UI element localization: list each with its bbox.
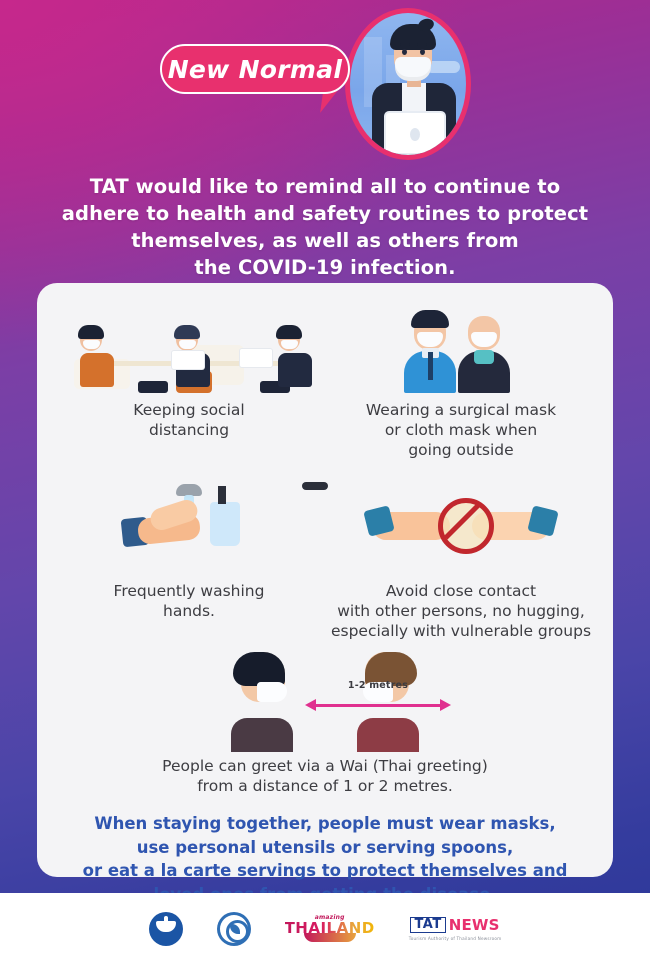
hair-shape (390, 24, 436, 50)
intro-line: themselves, as well as others from (22, 228, 628, 255)
wai-illustration: 1-2 metres (53, 648, 597, 752)
page-title: TAT would like to remind all to continue… (22, 174, 628, 282)
caption-line: or cloth mask when (366, 421, 556, 441)
news-label: NEWS (449, 916, 500, 934)
closing-line: When staying together, people must wear … (59, 812, 591, 835)
avatar (345, 8, 471, 160)
soap-bottle-icon (210, 502, 240, 546)
caption-line: Frequently washing (114, 582, 265, 602)
face-mask-icon (417, 332, 443, 347)
new-normal-badge: New Normal (160, 44, 350, 94)
two-people-wearing-masks-icon (396, 301, 526, 393)
tips-card: Keeping social distancing (37, 283, 613, 877)
wai-caption: People can greet via a Wai (Thai greetin… (53, 756, 597, 796)
person-shape (404, 316, 456, 393)
distance-label: 1-2 metres (315, 680, 441, 691)
closing-line: or eat a la carte servings to protect th… (59, 859, 591, 882)
body-shape (278, 353, 312, 387)
tips-row: Frequently washing hands. Avoid close co… (53, 478, 597, 641)
tips-row: Keeping social distancing (53, 297, 597, 460)
caption-line: especially with vulnerable groups (331, 622, 591, 642)
tat-news-wordmark: TAT NEWS (410, 916, 499, 934)
face-mask-icon (281, 340, 298, 349)
no-handshake-prohibited-icon (366, 482, 556, 574)
laptop-icon (172, 351, 204, 369)
intro-line: TAT would like to remind all to continue… (22, 174, 628, 201)
tip-illustration (53, 478, 325, 574)
eyebrow-shape (417, 43, 427, 46)
caption-line: Wearing a surgical mask (366, 401, 556, 421)
caption-line: from a distance of 1 or 2 metres. (53, 776, 597, 796)
hero-section: New Normal (0, 0, 650, 168)
hair-shape (233, 652, 285, 686)
eyebrow-shape (400, 43, 410, 46)
new-normal-label: New Normal (168, 55, 343, 84)
hair-shape (411, 310, 449, 328)
closing-line: use personal utensils or serving spoons, (59, 836, 591, 859)
double-arrow-icon (315, 704, 441, 707)
tip-caption: Frequently washing hands. (114, 582, 265, 622)
caption-line: Avoid close contact (331, 582, 591, 602)
amazing-thailand-logo-icon: amazing THAILAND (285, 915, 375, 942)
eye-shape (402, 49, 407, 55)
person-shape (80, 329, 114, 387)
body-shape (357, 718, 419, 752)
tip-illustration (325, 478, 597, 574)
head-shape (80, 329, 102, 351)
person-shape (458, 316, 510, 393)
tie-shape (428, 352, 433, 380)
tip-caption: Keeping social distancing (133, 401, 244, 441)
hair-shape (276, 325, 302, 339)
head-shape (278, 329, 300, 351)
people-at-table-social-distancing-icon (64, 301, 314, 393)
head-shape (176, 329, 198, 351)
person-shape (278, 329, 312, 387)
tat-news-tagline: Tourism Authority of Thailand Newsroom (409, 936, 502, 941)
caption-line: with other persons, no hugging, (331, 602, 591, 622)
tip-caption: Avoid close contact with other persons, … (331, 582, 591, 641)
laptop-icon (240, 349, 272, 367)
face-mask-icon (395, 57, 431, 81)
tat-label: TAT (410, 917, 445, 933)
face-mask-icon (179, 340, 196, 349)
face-mask-icon (257, 682, 287, 702)
swoosh-shape (304, 933, 356, 942)
tip-illustration (325, 297, 597, 393)
tip-wearing-mask: Wearing a surgical mask or cloth mask wh… (325, 297, 597, 460)
head-shape (414, 316, 446, 350)
caption-line: going outside (366, 441, 556, 461)
tourism-authority-seal-logo-icon (217, 912, 251, 946)
caption-line: People can greet via a Wai (Thai greetin… (53, 756, 597, 776)
closing-message: When staying together, people must wear … (53, 812, 597, 906)
body-shape (231, 718, 293, 752)
hair-shape (78, 325, 104, 339)
tip-caption: Wearing a surgical mask or cloth mask wh… (366, 401, 556, 460)
body-shape (80, 353, 114, 387)
intro-line: the COVID-19 infection. (22, 255, 628, 282)
face-mask-icon (471, 332, 497, 347)
tip-social-distancing: Keeping social distancing (53, 297, 325, 460)
eye-shape (420, 49, 425, 55)
person-profile-right (341, 652, 427, 752)
laptop-icon (386, 113, 444, 153)
footer-logos: amazing THAILAND TAT NEWS Tourism Author… (0, 893, 650, 964)
prohibition-sign-icon (438, 498, 494, 554)
tip-washing-hands: Frequently washing hands. (53, 478, 325, 641)
top-shape (474, 350, 494, 364)
face-mask-icon (83, 340, 100, 349)
masked-man-with-laptop-icon (350, 13, 466, 155)
person-profile-left (223, 652, 309, 752)
ministry-emblem-logo-icon (149, 912, 183, 946)
intro-line: adhere to health and safety routines to … (22, 201, 628, 228)
caption-line: distancing (133, 421, 244, 441)
hair-shape (174, 325, 200, 339)
infographic-poster: New Normal TAT would like to remind all … (0, 0, 650, 964)
caption-line: hands. (114, 602, 265, 622)
legs-shape (138, 381, 168, 393)
washing-hands-with-soap-icon (114, 482, 264, 574)
caption-line: Keeping social (133, 401, 244, 421)
tat-news-logo-icon: TAT NEWS Tourism Authority of Thailand N… (409, 916, 502, 941)
head-shape (468, 316, 500, 350)
tip-avoid-close-contact: Avoid close contact with other persons, … (325, 478, 597, 641)
tip-illustration (53, 297, 325, 393)
